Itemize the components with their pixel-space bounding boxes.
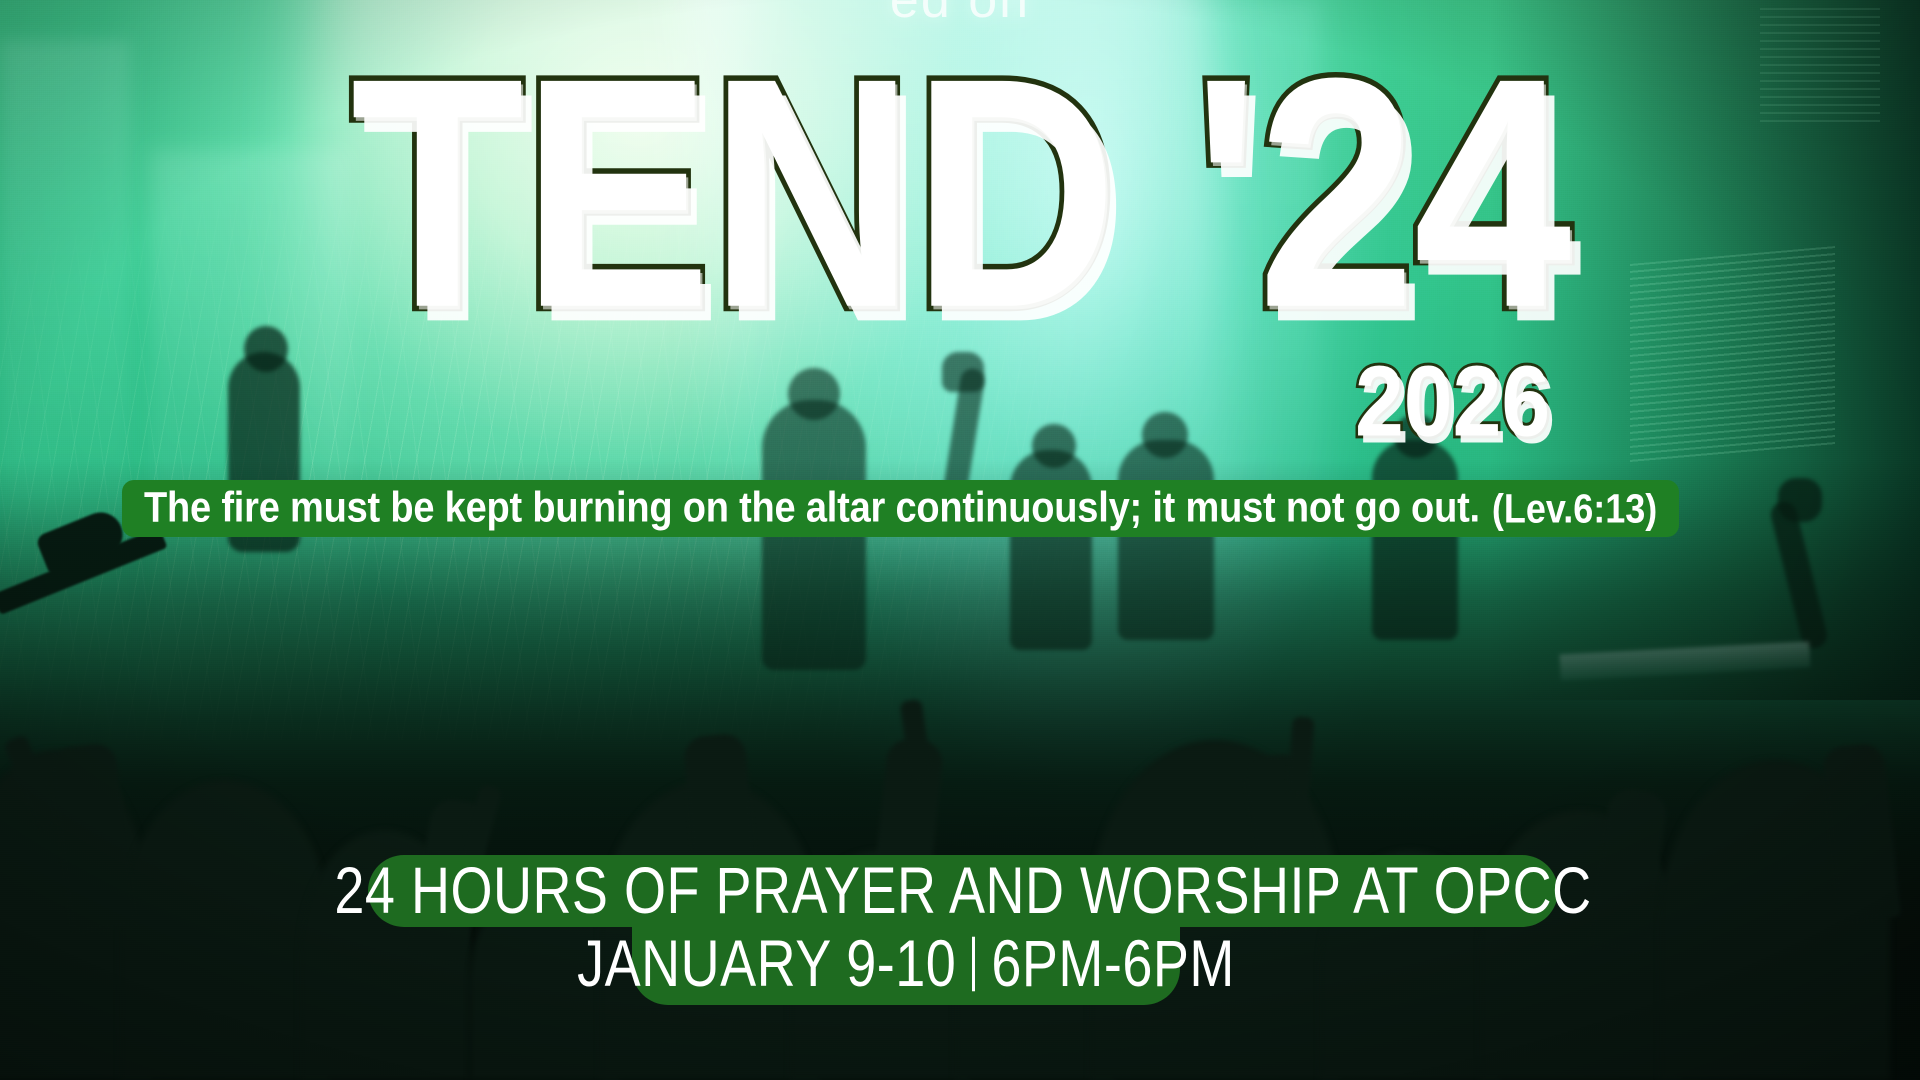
scripture-reference: (Lev.6:13) xyxy=(1492,485,1657,532)
event-date: JANUARY 9-10 xyxy=(577,926,956,1002)
event-description-banner: 24 HOURS OF PRAYER AND WORSHIP AT OPCC xyxy=(368,855,1558,927)
scripture-text: The fire must be kept burning on the alt… xyxy=(144,484,1480,532)
event-poster: ed on TEND '24 2026 The fire must be kep… xyxy=(0,0,1920,1080)
event-time: 6PM-6PM xyxy=(991,926,1235,1002)
datetime-divider xyxy=(972,937,975,992)
headline-container: TEND '24 xyxy=(0,52,1920,282)
event-year: 2026 xyxy=(1355,352,1550,452)
scripture-banner: The fire must be kept burning on the alt… xyxy=(122,480,1679,537)
event-datetime-row: JANUARY 9-10 6PM-6PM xyxy=(577,926,1235,1002)
event-datetime-banner: JANUARY 9-10 6PM-6PM xyxy=(632,923,1180,1005)
event-description: 24 HOURS OF PRAYER AND WORSHIP AT OPCC xyxy=(334,853,1591,929)
page-title: TEND '24 xyxy=(351,52,1570,333)
year-container: 2026 xyxy=(1355,352,1546,438)
